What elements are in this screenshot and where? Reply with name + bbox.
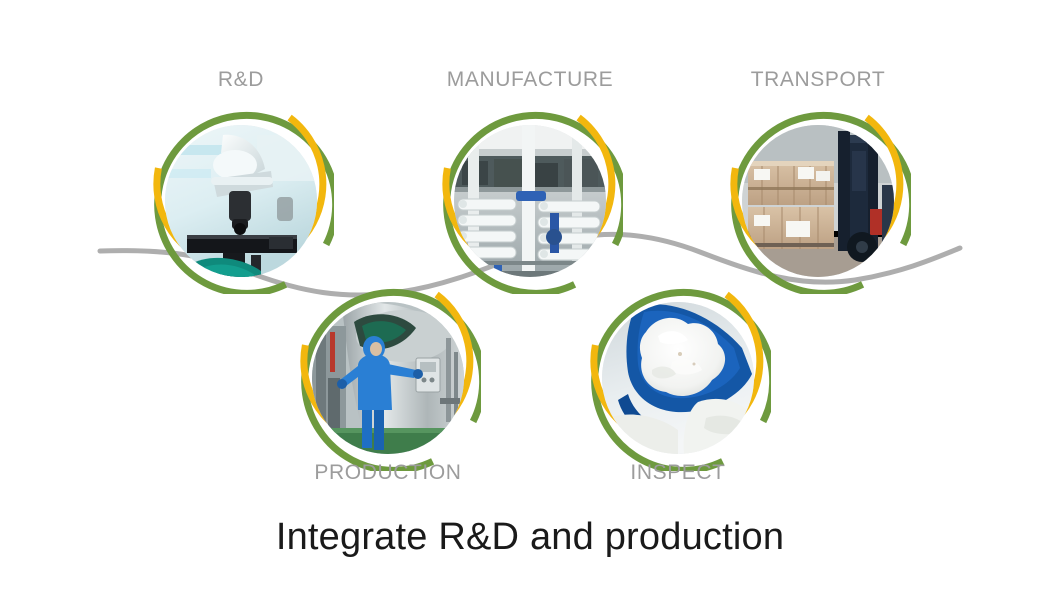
step-label-production: PRODUCTION <box>295 461 481 485</box>
step-node-rd[interactable] <box>148 108 334 294</box>
step-label-inspect: INSPECT <box>585 461 771 485</box>
forklift-pallet-photo <box>742 125 894 277</box>
factory-plant-photo <box>454 125 606 277</box>
infographic-canvas: R&D <box>0 0 1060 596</box>
step-node-production[interactable] <box>295 285 481 471</box>
white-powder-scoop-photo <box>602 302 754 454</box>
microscope-laboratory-photo <box>165 125 317 277</box>
step-label-manufacture: MANUFACTURE <box>437 68 623 92</box>
step-label-rd: R&D <box>148 68 334 92</box>
headline-text: Integrate R&D and production <box>0 516 1060 559</box>
step-node-transport[interactable] <box>725 108 911 294</box>
step-label-transport: TRANSPORT <box>725 68 911 92</box>
step-node-inspect[interactable] <box>585 285 771 471</box>
cleanroom-worker-photo <box>312 302 464 454</box>
step-node-manufacture[interactable] <box>437 108 623 294</box>
